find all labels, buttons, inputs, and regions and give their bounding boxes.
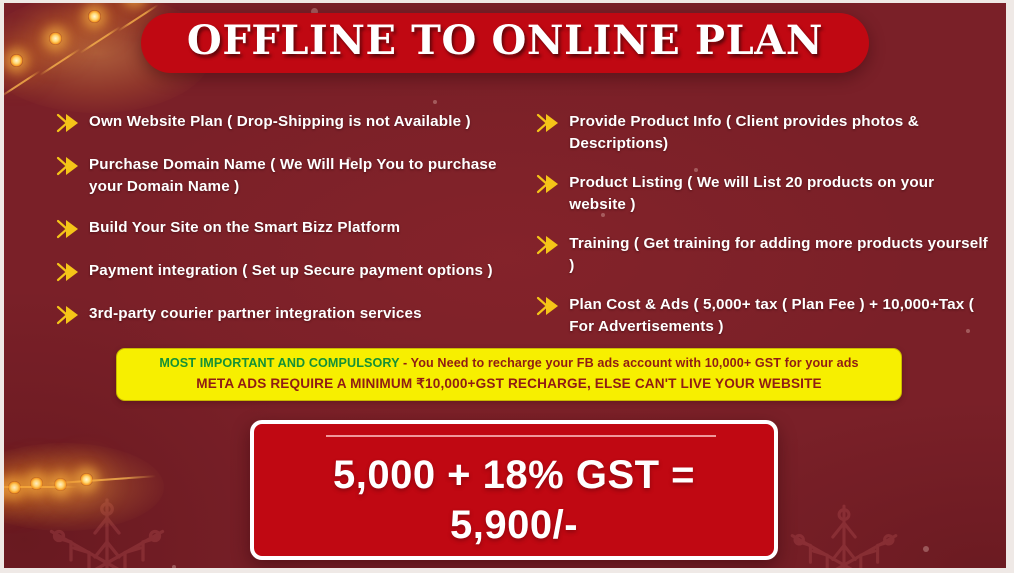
double-chevron-icon (536, 112, 562, 134)
list-item: 3rd-party courier partner integration se… (56, 303, 528, 326)
light-speck (923, 546, 929, 552)
list-item: Plan Cost & Ads ( 5,000+ tax ( Plan Fee … (536, 294, 992, 337)
list-item: Product Listing ( We will List 20 produc… (536, 172, 992, 215)
list-item-label: Own Website Plan ( Drop-Shipping is not … (89, 111, 471, 133)
feature-column-left: Own Website Plan ( Drop-Shipping is not … (56, 111, 536, 356)
light-speck (433, 100, 437, 104)
notice-line-one: MOST IMPORTANT AND COMPULSORY - You Need… (127, 356, 891, 372)
fairy-lights-bottom-left (0, 451, 186, 531)
title-pill: OFFLINE TO ONLINE PLAN (141, 13, 869, 73)
notice-rest-text: - You Need to recharge your FB ads accou… (399, 356, 858, 370)
double-chevron-icon (536, 295, 562, 317)
light-speck (172, 565, 176, 569)
promotional-poster: OFFLINE TO ONLINE PLAN Own Website Plan … (0, 0, 1014, 573)
list-item-label: Plan Cost & Ads ( 5,000+ tax ( Plan Fee … (569, 294, 992, 337)
double-chevron-icon (56, 261, 82, 283)
list-item-label: Payment integration ( Set up Secure paym… (89, 260, 493, 282)
feature-column-right: Provide Product Info ( Client provides p… (536, 111, 992, 356)
snowflake-icon (32, 488, 182, 573)
double-chevron-icon (56, 155, 82, 177)
double-chevron-icon (536, 173, 562, 195)
list-item: Provide Product Info ( Client provides p… (536, 111, 992, 154)
price-line-one: 5,000 + 18% GST = (254, 450, 774, 500)
list-item-label: Provide Product Info ( Client provides p… (569, 111, 992, 154)
page-title: OFFLINE TO ONLINE PLAN (187, 20, 823, 62)
price-divider (326, 435, 716, 437)
list-item: Own Website Plan ( Drop-Shipping is not … (56, 111, 528, 134)
list-item: Training ( Get training for adding more … (536, 233, 992, 276)
notice-line-two: META ADS REQUIRE A MINIMUM ₹10,000+GST R… (127, 376, 891, 392)
list-item-label: Product Listing ( We will List 20 produc… (569, 172, 992, 215)
notice-highlight-text: MOST IMPORTANT AND COMPULSORY (159, 356, 399, 370)
important-notice-banner: MOST IMPORTANT AND COMPULSORY - You Need… (116, 348, 902, 401)
feature-columns: Own Website Plan ( Drop-Shipping is not … (4, 111, 1006, 356)
poster-title-banner: OFFLINE TO ONLINE PLAN (4, 13, 1006, 73)
list-item: Build Your Site on the Smart Bizz Platfo… (56, 217, 528, 240)
list-item: Purchase Domain Name ( We Will Help You … (56, 154, 528, 197)
list-item-label: Purchase Domain Name ( We Will Help You … (89, 154, 528, 197)
price-box: 5,000 + 18% GST = 5,900/- (250, 420, 778, 560)
list-item-label: 3rd-party courier partner integration se… (89, 303, 422, 325)
price-line-two: 5,900/- (254, 500, 774, 550)
double-chevron-icon (56, 112, 82, 134)
double-chevron-icon (56, 304, 82, 326)
list-item-label: Training ( Get training for adding more … (569, 233, 992, 276)
list-item: Payment integration ( Set up Secure paym… (56, 260, 528, 283)
snowflake-icon (774, 495, 914, 573)
double-chevron-icon (536, 234, 562, 256)
price-amount: 5,000 + 18% GST = 5,900/- (254, 450, 774, 550)
list-item-label: Build Your Site on the Smart Bizz Platfo… (89, 217, 400, 239)
double-chevron-icon (56, 218, 82, 240)
